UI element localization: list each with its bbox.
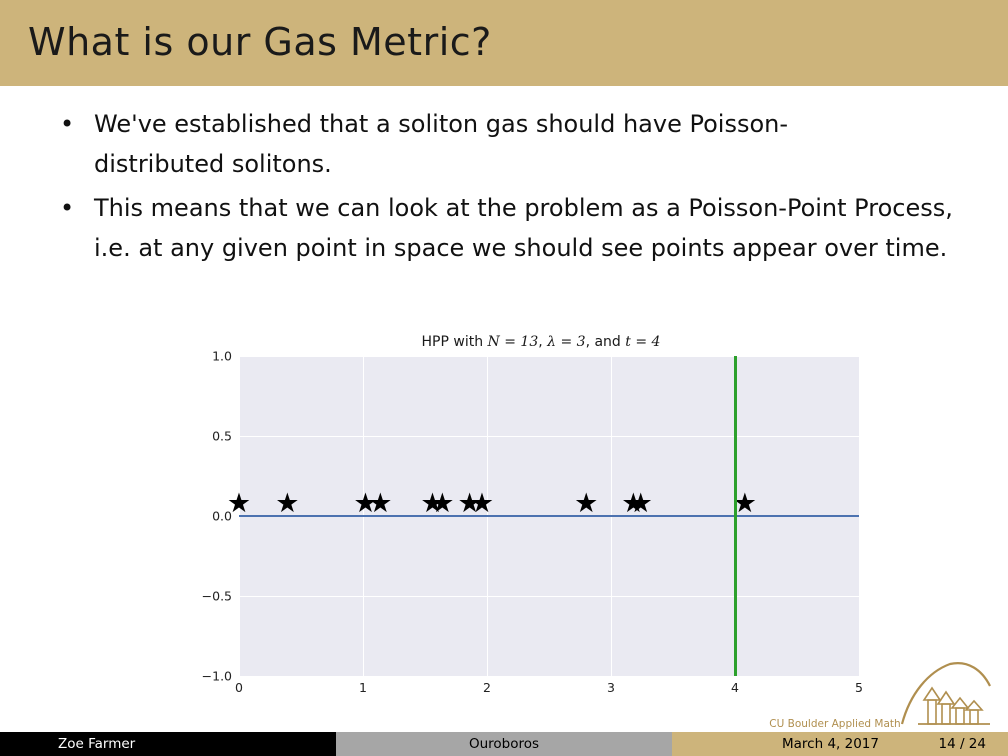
chart-title: HPP with N = 13, λ = 3, and t = 4: [196, 334, 886, 350]
x-tick-label: 4: [731, 680, 739, 695]
y-tick-label: 1.0: [212, 349, 232, 364]
footer-author: Zoe Farmer: [0, 732, 336, 756]
logo-caption: CU Boulder Applied Math: [760, 718, 910, 730]
bullet-dot-icon: •: [60, 188, 94, 228]
y-tick-label: −1.0: [202, 669, 232, 684]
slide: What is our Gas Metric? • We've establis…: [0, 0, 1008, 756]
chart-title-lambda: λ = 3: [547, 334, 585, 350]
gridline-vertical: [859, 356, 860, 676]
chart-title-sep1: ,: [538, 334, 547, 350]
y-tick-label: −0.5: [202, 589, 232, 604]
footer-title: Ouroboros: [336, 732, 672, 756]
series-t-marker: [734, 356, 737, 676]
list-item: • This means that we can look at the pro…: [60, 188, 980, 268]
page-title: What is our Gas Metric?: [28, 20, 492, 64]
chart-title-n: N = 13: [488, 334, 539, 350]
bullet-text: This means that we can look at the probl…: [94, 188, 974, 268]
chart-figure: HPP with N = 13, λ = 3, and t = 4 −1.0−0…: [196, 330, 886, 705]
x-tick-label: 3: [607, 680, 615, 695]
bullet-dot-icon: •: [60, 104, 94, 144]
footer-page-number: 14 / 24: [939, 736, 987, 752]
y-tick-label: 0.5: [212, 429, 232, 444]
footer-right: March 4, 2017 14 / 24: [672, 732, 1008, 756]
gridline-horizontal: [239, 676, 859, 677]
x-tick-label: 0: [235, 680, 243, 695]
gridline-horizontal: [239, 436, 859, 437]
chart-title-prefix: HPP with: [422, 334, 488, 350]
cu-boulder-logo-icon: [898, 660, 994, 726]
x-tick-label: 2: [483, 680, 491, 695]
x-tick-label: 1: [359, 680, 367, 695]
list-item: • We've established that a soliton gas s…: [60, 104, 980, 184]
x-tick-label: 5: [855, 680, 863, 695]
bullet-list: • We've established that a soliton gas s…: [60, 104, 980, 272]
gridline-horizontal: [239, 356, 859, 357]
footer-date: March 4, 2017: [782, 736, 879, 752]
slide-title-bar: What is our Gas Metric?: [0, 0, 1008, 86]
plot-area: ★★★★★★★★★★★★: [239, 356, 859, 676]
x-axis-ticks: 012345: [239, 680, 859, 700]
bullet-text: We've established that a soliton gas sho…: [94, 104, 794, 184]
chart-title-t: t = 4: [625, 334, 660, 350]
series-baseline: [239, 515, 859, 517]
gridline-horizontal: [239, 596, 859, 597]
chart-title-sep2: , and: [586, 334, 626, 350]
slide-footer: Zoe Farmer Ouroboros March 4, 2017 14 / …: [0, 732, 1008, 756]
